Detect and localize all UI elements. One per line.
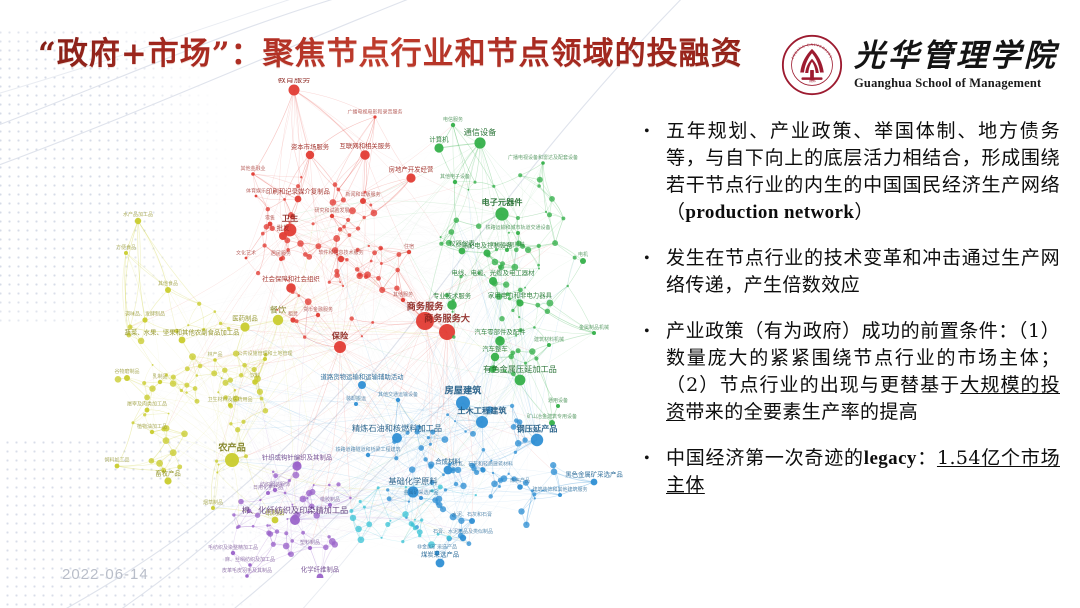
network-node	[436, 559, 445, 568]
network-node	[241, 420, 245, 424]
network-node	[442, 473, 445, 476]
network-node	[418, 534, 421, 537]
network-node	[492, 259, 499, 266]
network-node	[514, 418, 519, 423]
network-node	[170, 449, 177, 456]
network-node-label: 电机	[578, 251, 588, 258]
network-node-label: 麻、丝绢纺织及加工品	[225, 556, 275, 563]
network-node	[330, 199, 337, 206]
network-node-label: 通信设备	[464, 127, 497, 137]
network-node	[497, 336, 503, 342]
network-node	[473, 181, 476, 184]
network-node-label: 软件和信息技术服务	[318, 249, 363, 256]
network-node	[515, 440, 522, 447]
network-node	[414, 519, 416, 521]
network-node	[406, 173, 415, 182]
network-node	[221, 377, 223, 379]
network-node	[211, 506, 215, 510]
logo-name-cn: 光华管理学院	[854, 41, 1058, 72]
network-node	[273, 315, 283, 325]
network-node	[334, 269, 339, 274]
network-node	[392, 440, 396, 444]
network-node-label: 铁路道路隧道和桥梁工程建筑	[335, 446, 400, 453]
network-node-label: 煤炭采选产品	[421, 550, 459, 559]
network-node	[236, 526, 239, 529]
network-node	[306, 497, 308, 499]
network-node	[436, 496, 443, 503]
network-node	[303, 335, 306, 338]
network-node	[185, 391, 187, 393]
network-node	[284, 531, 288, 535]
network-node	[376, 276, 381, 281]
bullet-text: 发生在节点行业的技术变革和冲击通过生产网络传递，产生倍数效应	[666, 245, 1060, 299]
network-node	[257, 389, 263, 395]
network-node	[364, 271, 371, 278]
network-node	[286, 283, 296, 293]
bullet-item: •五年规划、产业政策、举国体制、地方债务等，与自下向上的底层活力相结合，形成围绕…	[640, 118, 1060, 226]
network-node	[492, 472, 494, 474]
network-node	[429, 443, 432, 446]
network-node-label: 房地产开发经营	[389, 164, 434, 173]
network-node	[566, 285, 568, 287]
network-node	[514, 247, 519, 252]
network-node	[508, 473, 510, 475]
network-node	[341, 197, 346, 202]
network-node	[573, 256, 577, 260]
network-node	[269, 524, 271, 526]
network-node	[522, 437, 527, 442]
network-node	[275, 529, 279, 533]
network-node	[387, 496, 392, 501]
network-node	[238, 499, 244, 505]
network-node	[245, 257, 248, 260]
network-node-label: 印刷和记录媒介复制品	[266, 187, 330, 196]
network-node	[289, 85, 300, 96]
network-node	[355, 267, 360, 272]
network-node-label: 橡胶制品	[320, 496, 340, 503]
network-node	[534, 356, 538, 360]
network-node-label: 水产品加工品	[123, 211, 153, 218]
network-node	[359, 500, 362, 503]
network-node	[308, 546, 312, 550]
network-node	[260, 397, 264, 401]
network-node	[464, 430, 467, 433]
network-node	[451, 123, 455, 127]
network-node	[514, 451, 517, 454]
network-node	[524, 287, 526, 289]
network-node	[292, 514, 297, 519]
network-node	[171, 375, 176, 380]
network-node	[342, 285, 344, 287]
network-node	[531, 434, 543, 446]
network-node	[533, 326, 536, 329]
network-node	[195, 374, 198, 377]
network-node	[229, 422, 232, 425]
network-node-label: 货币金融服务	[303, 306, 333, 313]
network-node	[405, 486, 407, 488]
network-node	[434, 143, 443, 152]
bullet-text: 五年规划、产业政策、举国体制、地方债务等，与自下向上的底层活力相结合，形成围绕若…	[666, 118, 1060, 226]
network-node	[413, 486, 416, 489]
network-node	[273, 473, 278, 478]
network-node	[142, 381, 146, 385]
network-node	[401, 540, 404, 543]
network-node-label: 商务服务	[407, 301, 445, 313]
network-node	[407, 250, 411, 254]
network-node	[537, 177, 543, 183]
network-node	[124, 375, 130, 381]
network-node-label: 塑料制品	[300, 539, 320, 546]
network-node	[346, 218, 350, 222]
network-node-label: 有色金属压延加工品	[483, 364, 557, 374]
network-node	[337, 188, 341, 192]
network-node	[323, 545, 329, 551]
network-node	[179, 337, 186, 344]
bullet-item: •产业政策（有为政府）成功的前置条件：（1）数量庞大的紧紧围绕节点行业的市场主体…	[640, 318, 1060, 426]
network-node	[515, 375, 526, 386]
network-node-label: 建筑装饰和其他建筑服务	[532, 486, 587, 493]
network-node	[423, 457, 427, 461]
network-node	[259, 499, 261, 501]
network-node-label: 矿山冶金建筑专用设备	[527, 413, 577, 420]
network-node	[386, 488, 389, 491]
network-node	[450, 468, 455, 473]
bullet-item: •发生在节点行业的技术变革和冲击通过生产网络传递，产生倍数效应	[640, 245, 1060, 299]
network-node	[328, 484, 331, 487]
network-node-label: 房屋建筑	[445, 385, 483, 397]
network-node	[295, 461, 301, 467]
network-node	[380, 247, 383, 250]
svg-text:1898: 1898	[808, 79, 816, 83]
network-node-label: 通用设备	[548, 397, 568, 404]
network-node-label: 体育娱乐	[246, 188, 266, 195]
network-node	[549, 196, 555, 202]
network-node	[395, 268, 400, 273]
network-node-label: 其他金融业	[240, 165, 265, 172]
network-node	[518, 316, 520, 318]
network-node	[306, 151, 314, 159]
network-node	[184, 383, 189, 388]
network-node	[371, 210, 378, 217]
network-node	[345, 258, 348, 261]
network-node	[181, 430, 188, 437]
network-node	[541, 161, 545, 165]
network-node	[455, 467, 461, 473]
network-node	[164, 477, 171, 484]
network-node-label: 卫生材料及医药用品	[207, 396, 252, 403]
network-node	[460, 483, 466, 489]
network-node	[349, 497, 352, 500]
network-node	[396, 252, 401, 257]
network-node	[510, 350, 515, 355]
network-node	[228, 377, 233, 382]
network-node	[510, 404, 514, 408]
network-node	[266, 207, 270, 211]
network-node-label: 汽车整车	[482, 344, 508, 353]
network-node	[165, 287, 171, 293]
network-node	[185, 366, 190, 371]
network-node	[213, 310, 216, 313]
network-node	[271, 542, 276, 547]
network-node	[394, 285, 399, 290]
network-node-label: 研究和试验发展	[314, 207, 349, 214]
network-node	[428, 461, 434, 467]
network-node-label: 居民服务	[271, 250, 291, 257]
network-node	[354, 402, 358, 406]
network-node	[284, 237, 290, 243]
network-node	[366, 521, 372, 527]
network-node	[235, 427, 240, 432]
network-node-label: 精炼石油和核燃料加工品	[352, 423, 442, 433]
network-node	[413, 526, 417, 530]
network-node	[263, 357, 267, 361]
network-node	[523, 522, 529, 528]
network-node	[232, 513, 235, 516]
network-node	[355, 526, 361, 532]
network-node	[440, 236, 442, 238]
network-node-label: 金属矿采选产品	[403, 489, 438, 496]
network-node	[517, 484, 523, 490]
network-node	[476, 416, 488, 428]
network-node	[491, 353, 499, 361]
network-node-label: 铁路运输和城市轨道交通设备	[485, 224, 550, 231]
network-node	[290, 539, 294, 543]
network-node	[255, 195, 258, 198]
network-node	[440, 506, 446, 512]
network-node	[503, 281, 509, 287]
network-node	[239, 373, 244, 378]
network-node	[545, 309, 550, 314]
bullet-text-segment: ）	[854, 201, 873, 223]
network-node	[492, 185, 495, 188]
network-node	[305, 298, 312, 305]
network-node	[373, 115, 376, 118]
network-node	[222, 380, 228, 386]
network-node	[525, 247, 531, 253]
peking-university-seal-icon: PEKING UNIVERSITY 1898	[781, 34, 843, 96]
network-node	[328, 281, 331, 284]
network-node	[231, 551, 235, 555]
network-node-label: 农产品	[217, 442, 246, 454]
network-node-label: 谷物磨制品	[114, 368, 139, 375]
network-node-label: 其他食品	[158, 280, 178, 287]
network-node	[263, 408, 269, 414]
bullet-text-segment: 发生在节点行业的技术变革和冲击通过生产网络传递，产生倍数效应	[666, 247, 1060, 296]
network-node-label: 烟草制品	[203, 499, 223, 506]
network-node	[283, 198, 286, 201]
network-node-label: 零售	[265, 215, 275, 222]
network-node	[546, 300, 553, 307]
network-node	[240, 322, 249, 331]
network-node	[142, 317, 147, 322]
network-node	[295, 319, 299, 323]
network-node	[368, 245, 370, 247]
network-node	[216, 471, 218, 473]
network-node	[552, 240, 558, 246]
network-node	[135, 218, 141, 224]
network-node	[476, 223, 482, 229]
network-node	[301, 531, 305, 535]
network-node	[381, 537, 383, 539]
network-node	[500, 261, 505, 266]
network-node	[286, 518, 288, 520]
network-node	[535, 303, 540, 308]
network-node	[228, 404, 233, 409]
production-network-graph: 教育服务广播电视电影和录音服务资本市场服务互联网和相关服务其他金融业房地产开发经…	[62, 78, 654, 578]
network-node	[213, 358, 217, 362]
network-node-label: 土木工程建筑	[457, 406, 507, 416]
network-node	[234, 389, 237, 392]
network-node-label: 畜牧产品	[155, 468, 181, 477]
network-node	[149, 385, 155, 391]
bullet-marker-icon: •	[640, 118, 666, 226]
network-node-label: 电信服务	[443, 116, 463, 123]
network-node	[537, 264, 540, 267]
bullet-text-segment: production network	[685, 202, 854, 223]
network-node	[283, 543, 290, 550]
network-node	[248, 563, 252, 567]
network-node	[547, 212, 552, 217]
network-node-label: 毛纺织及染整精加工品	[208, 544, 258, 551]
network-node	[360, 198, 366, 204]
network-node	[315, 243, 321, 249]
network-node	[558, 493, 562, 497]
network-node	[270, 226, 275, 231]
network-node	[447, 300, 457, 310]
network-node	[532, 441, 535, 444]
network-node	[262, 243, 266, 247]
network-node-label: 住宿	[404, 243, 414, 250]
network-node	[272, 471, 275, 474]
network-node-label: 林产品	[207, 351, 222, 358]
network-node	[370, 260, 373, 263]
network-node	[363, 506, 366, 509]
bullet-list: •五年规划、产业政策、举国体制、地方债务等，与自下向上的底层活力相结合，形成围绕…	[640, 118, 1060, 518]
network-node	[356, 226, 360, 230]
network-node	[261, 232, 265, 236]
network-node-label: 社会保障和社会组织	[262, 274, 320, 283]
network-node	[420, 518, 423, 521]
network-node	[551, 468, 558, 475]
network-node	[333, 182, 338, 187]
network-node	[556, 404, 560, 408]
network-node	[467, 189, 469, 191]
network-node-label: 汽车零部件及配件	[474, 327, 526, 336]
network-node-label: 棉、化纤纺织及印染精加工品	[242, 505, 348, 515]
network-node-label: 日用化学产品	[253, 484, 283, 491]
network-node	[361, 335, 363, 337]
network-node-label: 保险	[331, 331, 349, 341]
network-node	[561, 216, 565, 220]
network-node-label: 批发	[277, 223, 290, 232]
network-node	[180, 389, 183, 392]
network-node	[516, 231, 520, 235]
bullet-text: 产业政策（有为政府）成功的前置条件：（1）数量庞大的紧紧围绕节点行业的市场主体；…	[666, 318, 1060, 426]
network-node	[215, 460, 218, 463]
network-node	[488, 494, 492, 498]
network-node	[292, 472, 299, 479]
network-node	[272, 517, 279, 524]
network-node	[195, 399, 200, 404]
network-node	[295, 196, 302, 203]
network-node	[547, 343, 551, 347]
bullet-marker-icon: •	[640, 245, 666, 299]
network-node	[438, 485, 443, 490]
network-node	[222, 367, 227, 372]
network-node-label: 公共设施管理和土地管理	[237, 350, 292, 357]
network-node	[149, 458, 155, 464]
network-node	[131, 421, 134, 424]
network-node	[474, 137, 485, 148]
network-node	[338, 256, 344, 262]
network-node	[511, 309, 514, 312]
network-node	[444, 488, 447, 491]
network-node	[124, 251, 128, 255]
network-svg: 教育服务广播电视电影和录音服务资本市场服务互联网和相关服务其他金融业房地产开发经…	[62, 78, 654, 578]
network-node-label: 餐饮	[270, 304, 286, 314]
network-node	[508, 232, 510, 234]
network-node-label: 基础化学原料	[388, 476, 437, 486]
network-node-label: 电子元器件	[482, 197, 523, 207]
network-node	[358, 381, 366, 389]
network-node	[418, 445, 424, 451]
network-node	[334, 341, 346, 353]
network-node	[256, 271, 260, 275]
network-node-label: 其他电子设备	[440, 173, 470, 180]
network-node	[537, 184, 541, 188]
network-node	[115, 376, 122, 383]
network-node	[529, 348, 535, 354]
network-node	[336, 482, 340, 486]
network-node	[300, 496, 307, 503]
network-node	[454, 217, 460, 223]
network-node	[466, 541, 471, 546]
network-node	[369, 204, 372, 207]
network-node	[219, 322, 223, 326]
network-node	[446, 413, 449, 416]
slide-title: “政府+市场”：聚焦节点行业和节点领域的投融资	[38, 28, 743, 73]
network-node	[580, 258, 586, 264]
network-node	[360, 150, 370, 160]
network-node	[349, 316, 353, 320]
network-node	[495, 207, 508, 220]
network-node	[339, 281, 341, 283]
network-node	[358, 273, 362, 277]
network-node	[115, 464, 120, 469]
network-node	[458, 518, 464, 524]
network-node	[371, 321, 374, 324]
network-node	[396, 398, 400, 402]
network-node	[288, 551, 294, 557]
network-node	[491, 480, 498, 487]
network-node-label: 非金属矿采选产品	[417, 544, 457, 551]
network-node	[491, 280, 497, 286]
network-node-label: 植物油加工品	[137, 423, 167, 430]
network-node	[187, 324, 189, 326]
network-node	[291, 290, 295, 294]
network-node-label: 医药制品	[232, 313, 258, 322]
network-node	[338, 227, 342, 231]
network-node	[330, 214, 334, 218]
network-node	[350, 515, 356, 521]
brand-logo: PEKING UNIVERSITY 1898 光华管理学院 Guanghua S…	[781, 34, 1058, 96]
network-node	[297, 240, 304, 247]
network-node	[244, 454, 248, 458]
network-node	[211, 370, 217, 376]
network-node	[389, 520, 391, 522]
network-node-label: 文化办公用机械	[489, 241, 524, 248]
network-node	[189, 353, 196, 360]
